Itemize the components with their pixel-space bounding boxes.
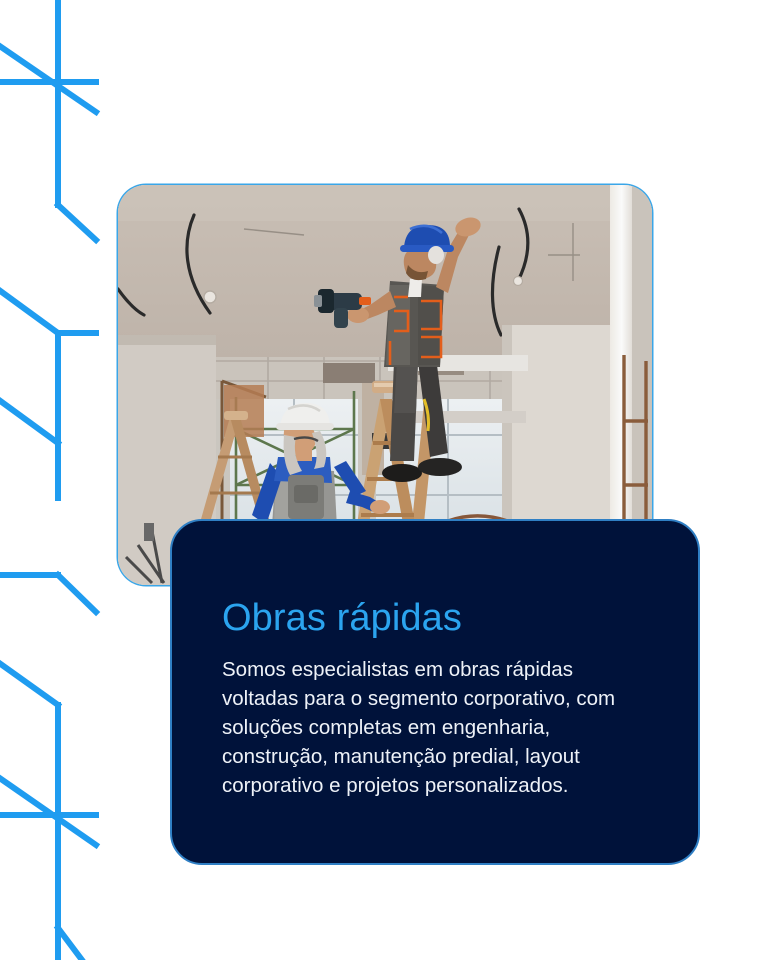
card-title: Obras rápidas [222,599,652,639]
card-body-text: Somos especialistas em obras rápidas vol… [222,655,652,801]
blue-line-grid-pattern-icon [0,0,130,960]
slide-canvas: Obras rápidas Somos especialistas em obr… [0,0,768,960]
info-card: Obras rápidas Somos especialistas em obr… [170,519,700,865]
